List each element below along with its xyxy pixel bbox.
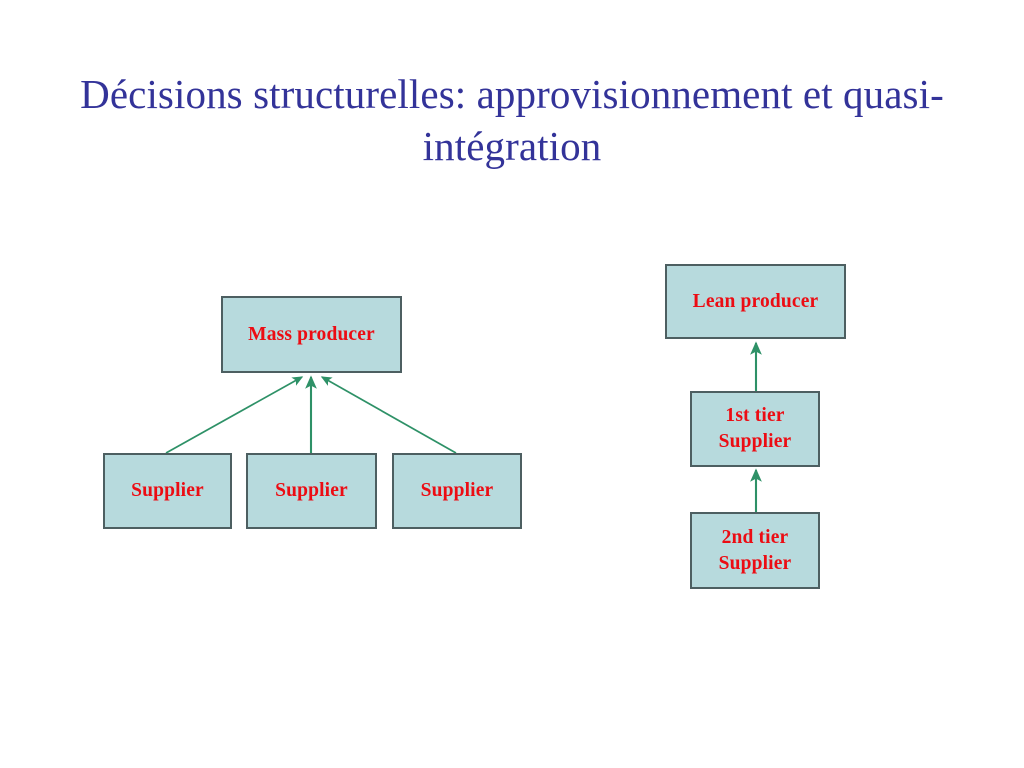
- node-supplier-2[interactable]: Supplier: [246, 453, 377, 529]
- connector-supplier-3-to-mass-producer: [322, 377, 456, 453]
- node-supplier-2-label: Supplier: [275, 478, 348, 504]
- node-lean-producer-label: Lean producer: [693, 289, 819, 315]
- slide-canvas: Décisions structurelles: approvisionneme…: [0, 0, 1024, 768]
- node-tier1-supplier-label: 1st tier Supplier: [719, 403, 792, 455]
- node-mass-producer-label: Mass producer: [248, 322, 375, 348]
- node-lean-producer[interactable]: Lean producer: [665, 264, 846, 339]
- node-supplier-1[interactable]: Supplier: [103, 453, 232, 529]
- connector-supplier-1-to-mass-producer: [166, 377, 302, 453]
- node-mass-producer[interactable]: Mass producer: [221, 296, 402, 373]
- node-tier2-supplier[interactable]: 2nd tier Supplier: [690, 512, 820, 589]
- node-tier2-supplier-label: 2nd tier Supplier: [719, 525, 792, 577]
- node-supplier-3[interactable]: Supplier: [392, 453, 522, 529]
- node-supplier-1-label: Supplier: [131, 478, 204, 504]
- page-title: Décisions structurelles: approvisionneme…: [72, 68, 952, 173]
- node-supplier-3-label: Supplier: [421, 478, 494, 504]
- node-tier1-supplier[interactable]: 1st tier Supplier: [690, 391, 820, 467]
